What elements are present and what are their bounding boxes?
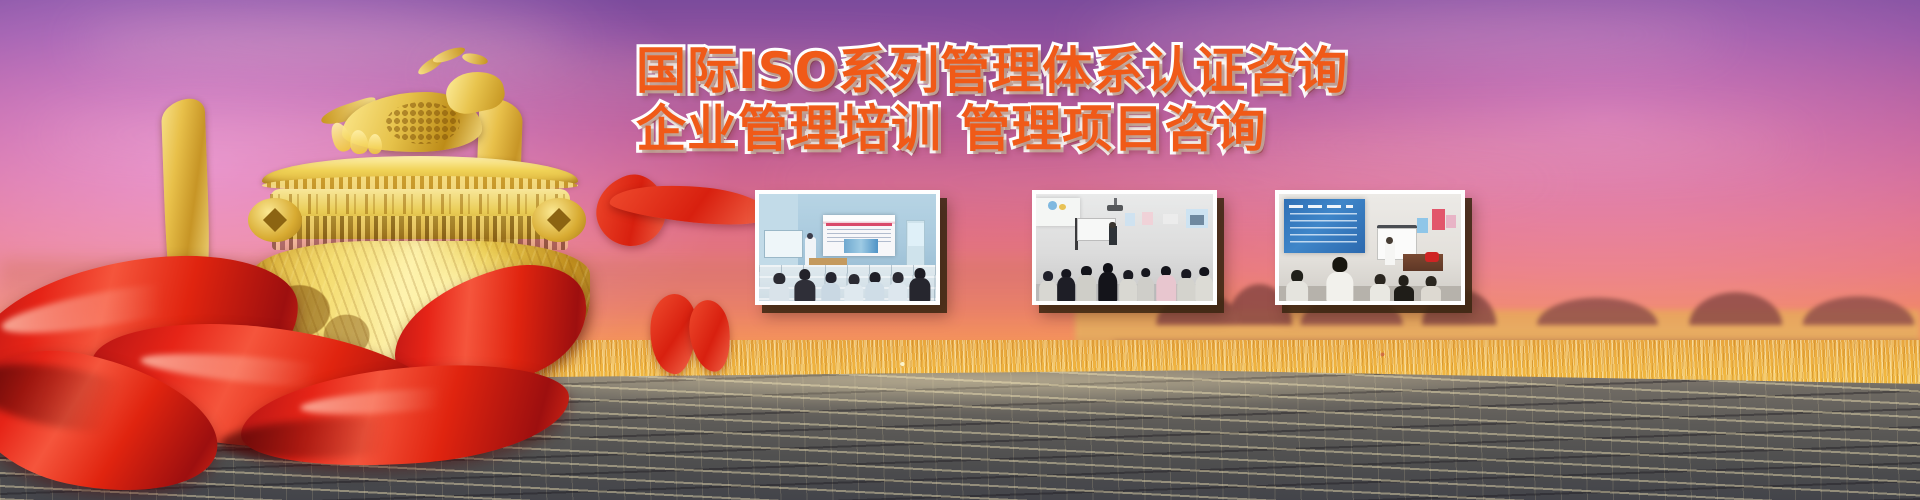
person-body [1040, 281, 1058, 301]
person-head [1375, 274, 1386, 285]
audience-person [1394, 276, 1414, 301]
dragon-flame [368, 134, 382, 154]
audience-person [1178, 266, 1196, 301]
person-body [865, 282, 884, 301]
audience-group [1036, 239, 1213, 301]
person-body [1057, 277, 1075, 301]
person-head [1398, 275, 1409, 286]
promotional-banner: 国际ISO系列管理体系认证咨询 企业管理培训 管理项目咨询 [0, 0, 1920, 500]
person-body [1370, 284, 1390, 301]
person-head [1426, 276, 1437, 287]
wall-poster [1142, 212, 1153, 225]
audience-person [1370, 274, 1390, 301]
instructor-head [807, 233, 813, 239]
audience-person [1421, 277, 1441, 301]
audience-person [1077, 263, 1096, 301]
ceiling-projector [1107, 205, 1123, 211]
person-body [1195, 276, 1213, 301]
audience-person [1195, 264, 1213, 301]
audience-person [794, 269, 815, 301]
person-head [869, 272, 880, 283]
person-head [799, 269, 810, 280]
audience-person [844, 275, 863, 301]
dragon-horn [461, 51, 489, 66]
person-body [1326, 272, 1353, 301]
dragon-finial [320, 44, 510, 170]
person-body [1119, 279, 1137, 301]
audience-person [1156, 263, 1175, 301]
photo-3-image [1279, 194, 1461, 301]
headline-block: 国际ISO系列管理体系认证咨询 企业管理培训 管理项目咨询 [636, 44, 1276, 156]
person-head [1332, 257, 1347, 272]
person-head [915, 268, 926, 279]
audience-person [770, 274, 789, 301]
ding-neck-pattern [270, 194, 570, 214]
red-silk-ribbon [0, 250, 610, 500]
audience-person [821, 272, 840, 301]
person-head [892, 272, 903, 283]
audience-person [1057, 266, 1075, 301]
dragon-scales [386, 102, 460, 144]
person-body [1286, 281, 1308, 301]
photo-seminar-audience[interactable] [1032, 190, 1217, 305]
person-body [821, 283, 840, 301]
slide-graphic [1059, 204, 1066, 210]
headline-line-1: 国际ISO系列管理体系认证咨询 [636, 44, 1276, 98]
ding-ring-right [532, 198, 586, 242]
audience-person [909, 268, 930, 302]
headline-line-2: 企业管理培训 管理项目咨询 [636, 102, 1276, 156]
person-body [770, 284, 789, 301]
audience-person [1286, 270, 1308, 301]
audience-person [1098, 260, 1117, 301]
person-body [1156, 275, 1175, 301]
person-body [888, 283, 907, 301]
audience-person [1040, 270, 1058, 301]
photo-1-image [759, 194, 936, 301]
person-head [848, 274, 859, 285]
audience-group [759, 239, 936, 301]
projection-wall [1036, 198, 1080, 226]
person-body [1394, 286, 1414, 301]
audience-person [865, 271, 884, 301]
distant-treeline [1152, 280, 1920, 325]
person-body [1098, 272, 1117, 301]
photo-2-image [1036, 194, 1213, 301]
wall-poster [1163, 214, 1177, 224]
person-head [825, 272, 836, 283]
wall-poster [1125, 213, 1136, 226]
ding-ring-left [248, 198, 302, 242]
person-body [1137, 277, 1155, 301]
wall-poster [1432, 209, 1445, 230]
speaker-head [1109, 222, 1115, 228]
slide-title-bar [826, 223, 893, 226]
audience-person [1137, 265, 1155, 301]
audience-person [888, 272, 907, 301]
person-body [909, 278, 930, 301]
photo-lecture-slide[interactable] [1275, 190, 1465, 305]
person-body [1421, 286, 1441, 301]
person-body [794, 280, 815, 301]
audience-person [1119, 268, 1137, 302]
person-body [844, 284, 863, 301]
person-body [1077, 275, 1096, 301]
wall-poster-image [1190, 215, 1204, 225]
person-body [1178, 278, 1196, 301]
wall-poster [1446, 215, 1455, 228]
cloud-wisp [1229, 130, 1805, 160]
photo-classroom-projector[interactable] [755, 190, 940, 305]
person-head [774, 273, 785, 284]
slide-heading [1289, 205, 1353, 209]
wall-poster [1417, 218, 1428, 233]
person-head [1291, 270, 1303, 282]
audience-person [1326, 256, 1353, 301]
audience-group [1279, 239, 1461, 301]
dragon-head [442, 66, 507, 117]
